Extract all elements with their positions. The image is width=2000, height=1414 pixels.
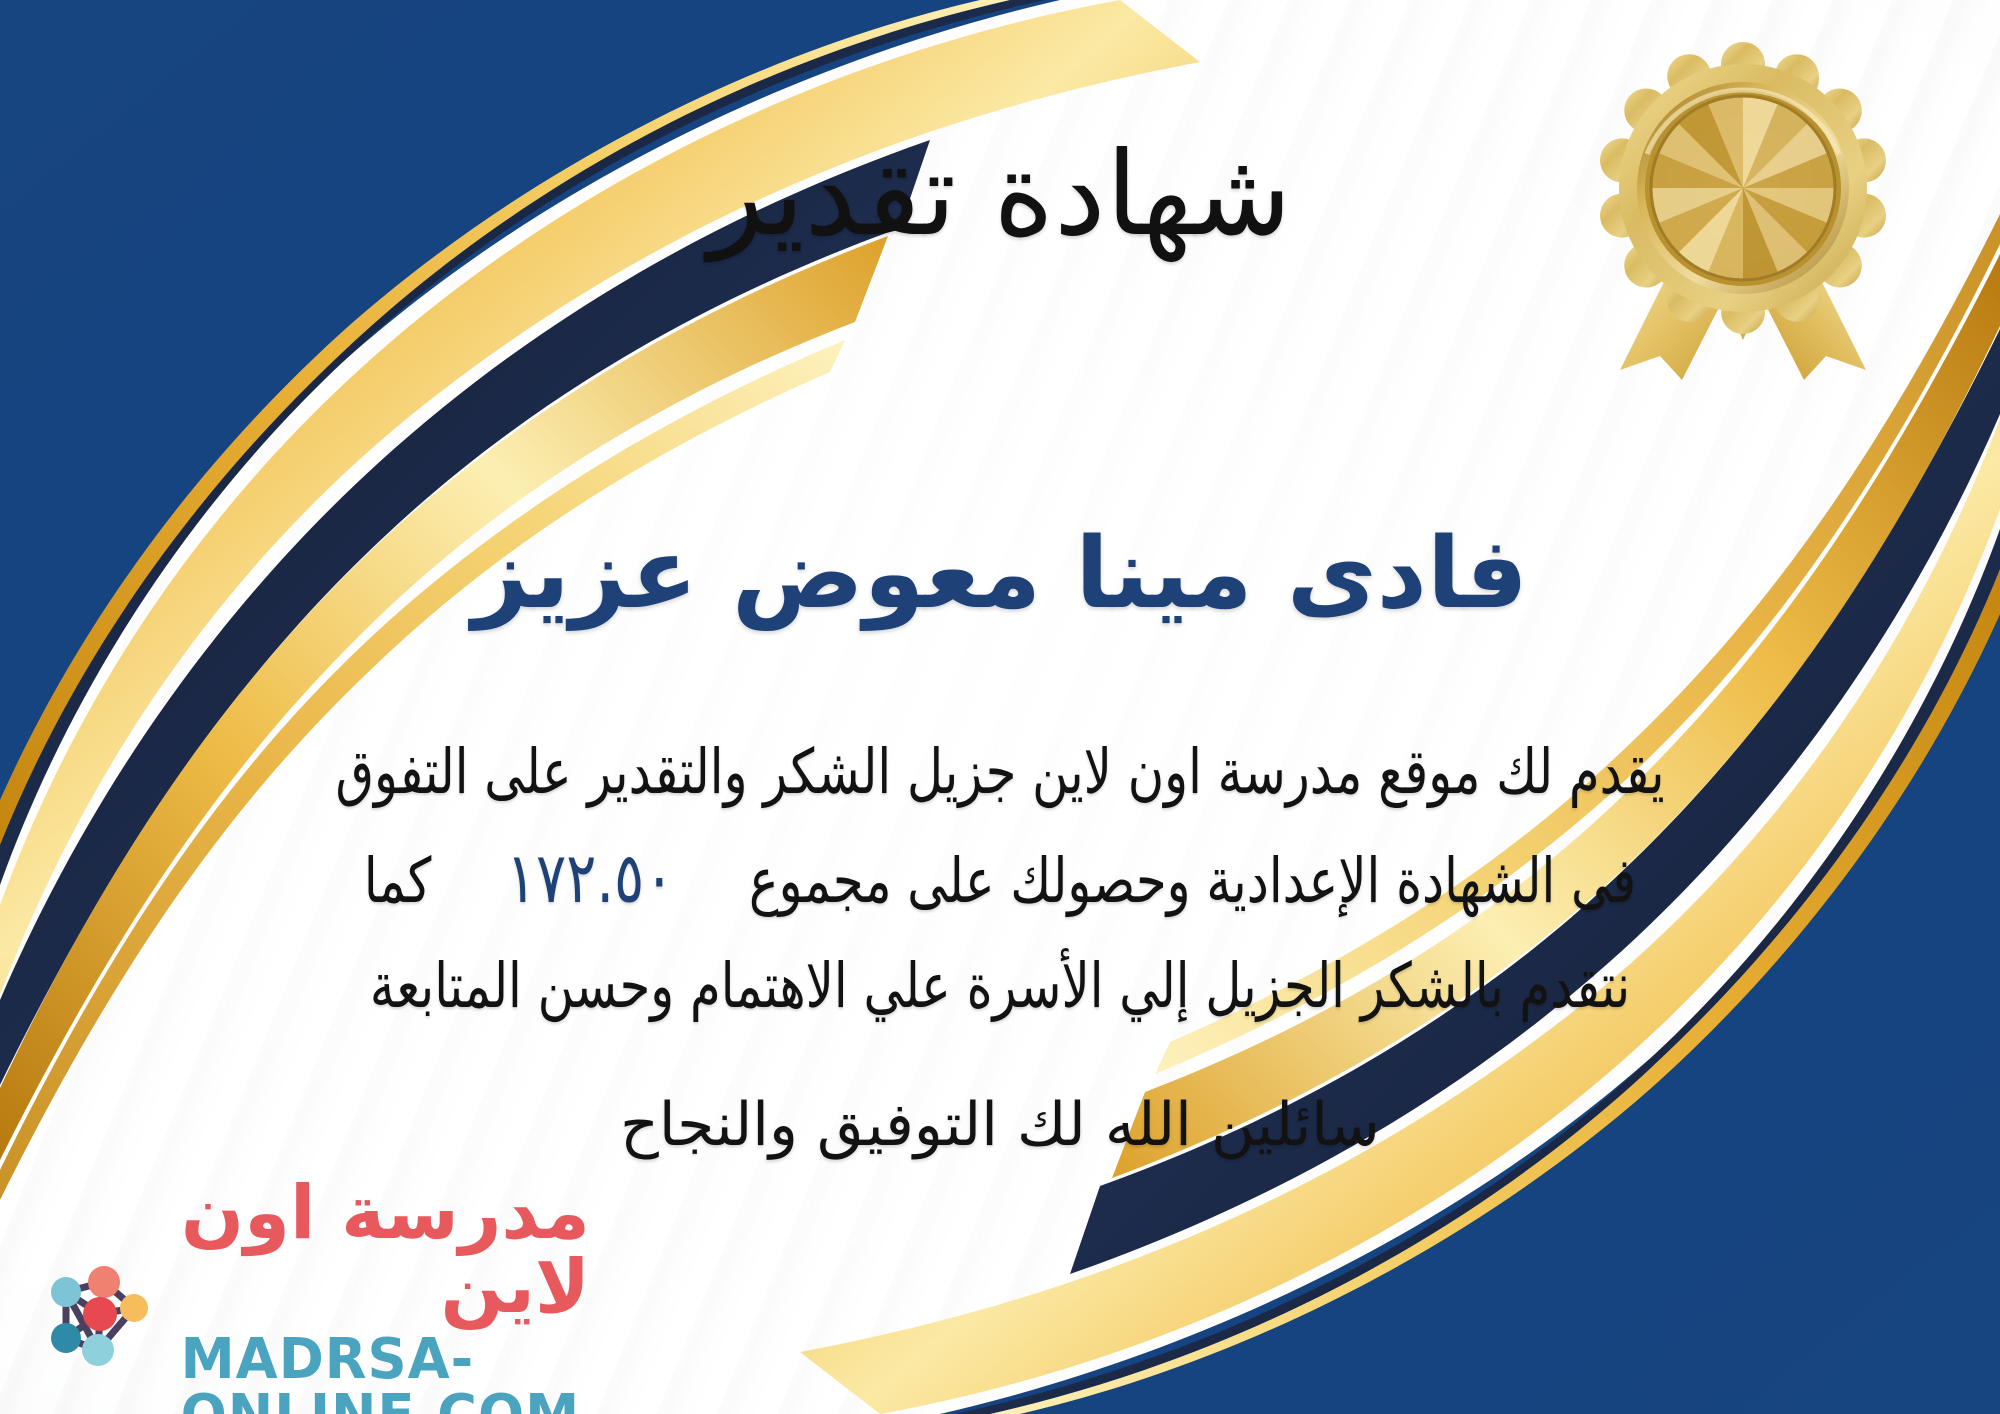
body-line-1: يقدم لك موقع مدرسة اون لاين جزيل الشكر و…	[248, 722, 1752, 822]
recipient-name: فادى مينا معوض عزيز	[0, 516, 2000, 634]
closing-line: سائلين الله لك التوفيق والنجاح	[0, 1090, 2000, 1160]
body-line-2-suffix: كما	[364, 844, 431, 917]
body-line-3: نتقدم بالشكر الجزيل إلي الأسرة علي الاهت…	[248, 936, 1752, 1036]
network-nodes-icon	[30, 1246, 158, 1374]
certificate-page: شهادة تقدير فادى مينا معوض عزيز يقدم لك …	[0, 0, 2000, 1414]
total-score-value: ١٧٢.٥٠	[506, 837, 674, 919]
body-line-2: فى الشهادة الإعدادية وحصولك على مجموع ١٧…	[248, 822, 1752, 935]
gold-award-rosette-icon	[1598, 40, 1888, 380]
brand-logo[interactable]: مدرسة اون لاين MADRSA-ONLINE.COM	[30, 1230, 590, 1390]
certificate-body: يقدم لك موقع مدرسة اون لاين جزيل الشكر و…	[60, 722, 1940, 1036]
body-line-2-prefix: فى الشهادة الإعدادية وحصولك على مجموع	[749, 844, 1636, 917]
brand-text: مدرسة اون لاين MADRSA-ONLINE.COM	[168, 1176, 590, 1414]
brand-website: MADRSA-ONLINE.COM	[181, 1332, 590, 1414]
brand-name-arabic: مدرسة اون لاين	[168, 1176, 590, 1324]
